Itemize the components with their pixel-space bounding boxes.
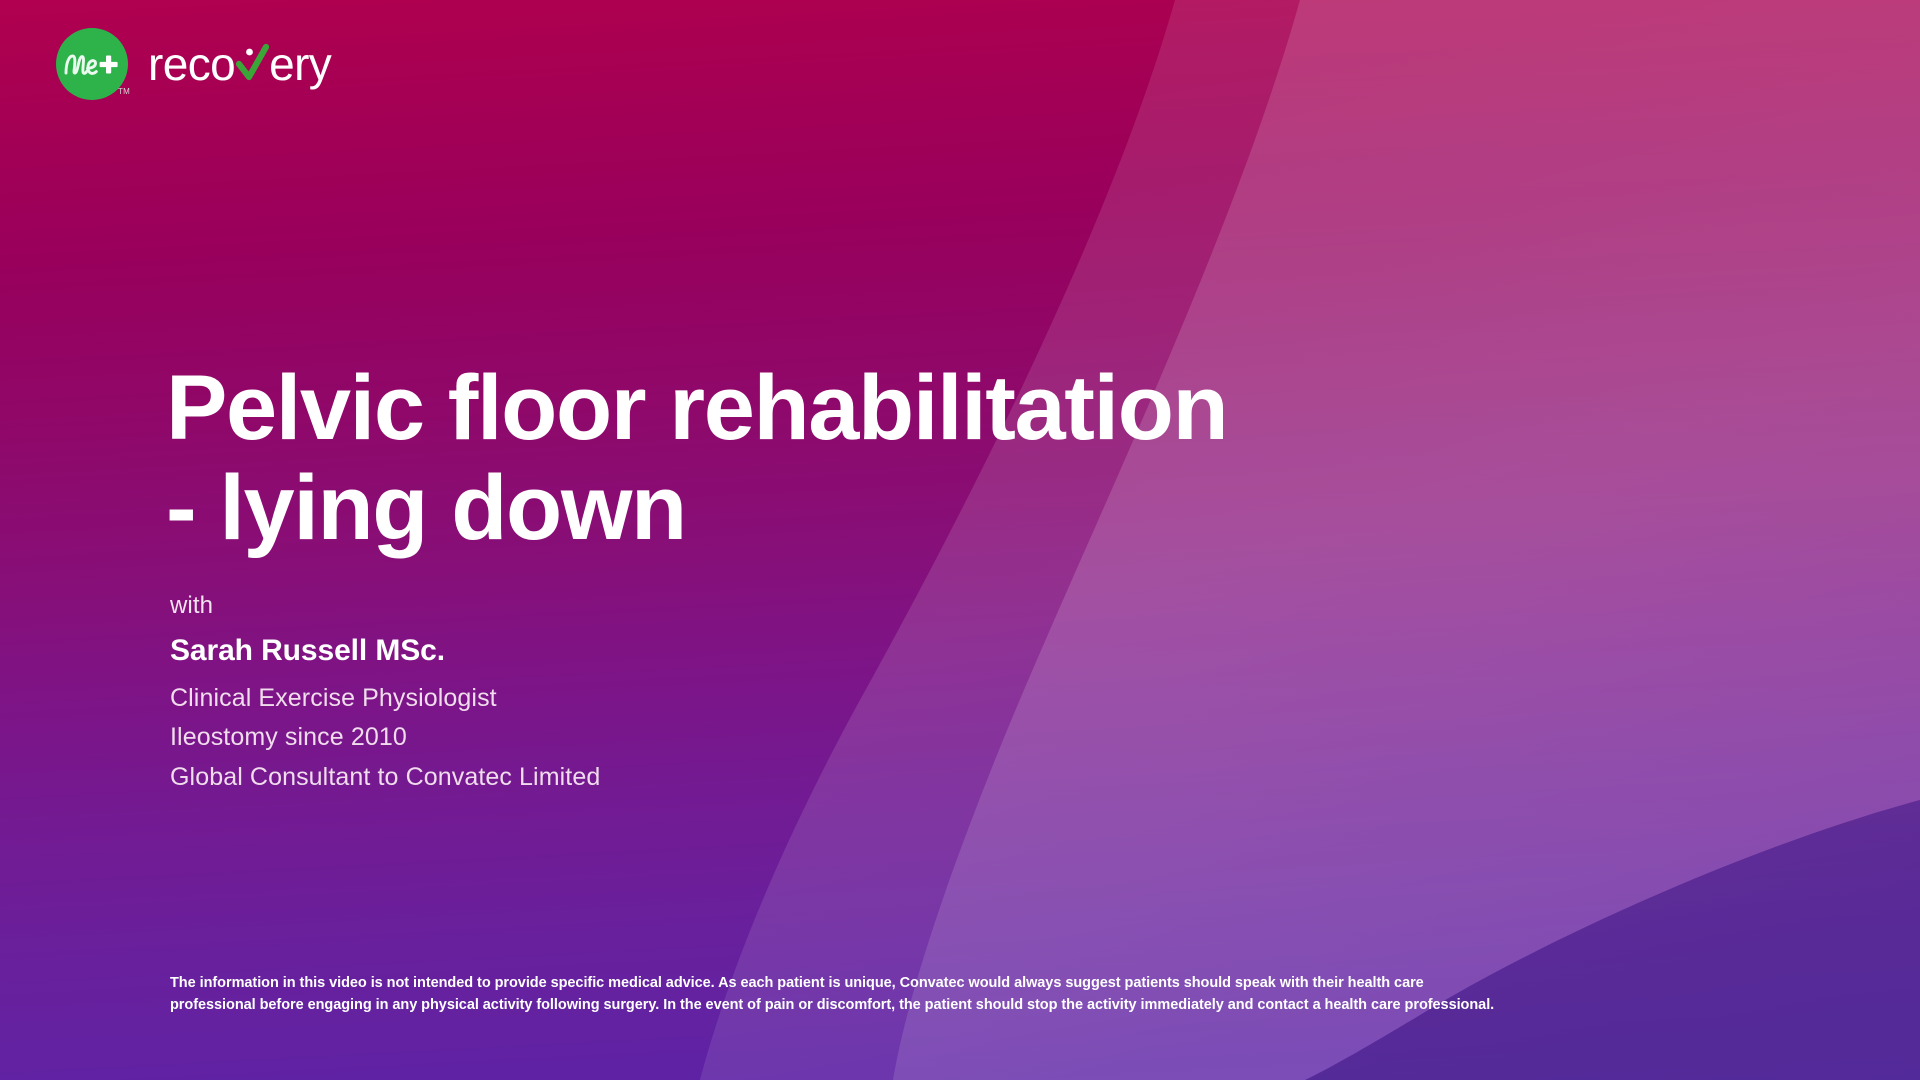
- presenter-name: Sarah Russell MSc.: [170, 633, 600, 669]
- logo-wordmark: reco ery: [148, 36, 331, 92]
- slide-title-line-1: Pelvic floor rehabilitation: [166, 362, 1466, 454]
- presenter-credential-affiliation: Global Consultant to Convatec Limited: [170, 762, 600, 793]
- me-plus-glyph: [62, 47, 122, 81]
- presenter-credential-role: Clinical Exercise Physiologist: [170, 683, 600, 714]
- title-slide: TM reco ery Pelvic floor rehabilitation …: [0, 0, 1920, 1080]
- presenter-credential-history: Ileostomy since 2010: [170, 722, 600, 753]
- presenter-block: with Sarah Russell MSc. Clinical Exercis…: [170, 592, 600, 792]
- brand-logo: TM reco ery: [56, 28, 331, 100]
- presenter-with-label: with: [170, 592, 600, 621]
- medical-disclaimer: The information in this video is not int…: [170, 972, 1590, 1016]
- slide-title-line-2: - lying down: [166, 462, 1466, 554]
- disclaimer-line-2: professional before engaging in any phys…: [170, 994, 1590, 1016]
- wordmark-prefix: reco: [148, 41, 235, 87]
- slide-title: Pelvic floor rehabilitation - lying down: [166, 362, 1466, 554]
- trademark-mark: TM: [118, 88, 130, 96]
- wordmark-suffix: ery: [269, 41, 331, 87]
- checkmark-icon: [235, 41, 269, 87]
- checkmark-glyph: [235, 41, 269, 87]
- logo-badge: TM: [56, 28, 128, 100]
- curve-bottom-right: [1305, 800, 1920, 1080]
- disclaimer-line-1: The information in this video is not int…: [170, 972, 1590, 994]
